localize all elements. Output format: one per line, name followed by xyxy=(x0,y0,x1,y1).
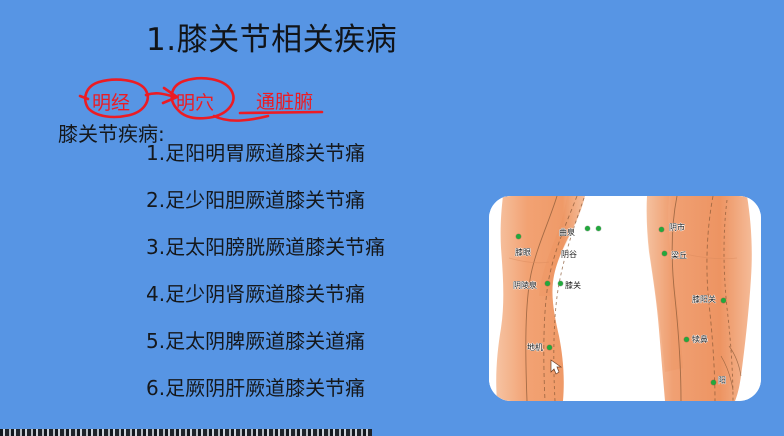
acupoint-dot xyxy=(659,227,664,232)
acupoint-label-yingu: 阴谷 xyxy=(561,250,577,259)
list-item: 4.足少阴肾厥道膝关节痛 xyxy=(146,282,385,306)
list-item: 3.足太阳膀胱厥道膝关节痛 xyxy=(146,235,385,259)
ink-sweep-to-term-3 xyxy=(214,116,268,121)
acupoint-label-liangqiu: 梁丘 xyxy=(671,251,687,260)
acupoint-label-diji: 地机 xyxy=(527,343,543,352)
acupoint-dot xyxy=(545,281,550,286)
ink-arrow-head xyxy=(163,88,177,103)
slide-canvas: 1.膝关节相关疾病 明经 明穴 通脏腑 膝关节疾病: 1.足阳明胃厥道膝关节痛 … xyxy=(0,0,784,436)
acupoint-label-yang: 阳 xyxy=(718,376,726,385)
leg-anatomy-illustration xyxy=(489,196,761,401)
ink-arrow-connector xyxy=(146,93,176,97)
acupoint-label-xiyangguan: 膝阳关 xyxy=(692,295,716,304)
list-item: 6.足厥阴肝厥道膝关节痛 xyxy=(146,376,385,400)
acupoint-diagram-card: 曲泉 膝眼 阴谷 阴陵泉 膝关 地机 阴市 梁丘 膝阳关 犊鼻 阳 xyxy=(489,196,761,401)
disease-list: 1.足阳明胃厥道膝关节痛 2.足少阳胆厥道膝关节痛 3.足太阳膀胱厥道膝关节痛 … xyxy=(146,141,385,423)
acupoint-dot xyxy=(547,345,552,350)
acupoint-label-dubi: 犊鼻 xyxy=(692,335,708,344)
acupoint-label-yinlingquan: 阴陵泉 xyxy=(513,281,537,290)
acupoint-dot xyxy=(516,234,521,239)
acupoint-dot xyxy=(711,380,716,385)
bottom-edge-artifact xyxy=(0,429,372,436)
acupoint-label-xiyan: 膝眼 xyxy=(515,248,531,257)
acupoint-label-ququan: 曲泉 xyxy=(559,228,575,237)
list-item: 5.足太阴脾厥道膝关道痛 xyxy=(146,329,385,353)
ink-tail-term-1 xyxy=(80,96,88,99)
annotation-term-tong-zang-fu: 通脏腑 xyxy=(256,91,313,113)
list-item: 1.足阳明胃厥道膝关节痛 xyxy=(146,141,385,165)
annotation-term-ming-jing: 明经 xyxy=(92,92,130,114)
page-title: 1.膝关节相关疾病 xyxy=(146,21,397,59)
acupoint-dot xyxy=(662,251,667,256)
acupoint-dot xyxy=(684,337,689,342)
acupoint-dot xyxy=(596,226,601,231)
list-item: 2.足少阳胆厥道膝关节痛 xyxy=(146,188,385,212)
acupoint-dot xyxy=(721,298,726,303)
acupoint-dot xyxy=(558,281,563,286)
acupoint-label-yinshi: 阴市 xyxy=(669,223,685,232)
annotation-term-ming-xue: 明穴 xyxy=(176,92,214,114)
acupoint-dot xyxy=(585,226,590,231)
acupoint-label-xiguan: 膝关 xyxy=(565,281,581,290)
